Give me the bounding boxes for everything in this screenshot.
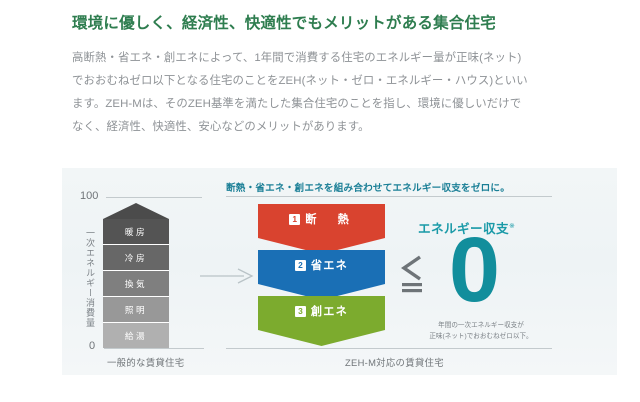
right-chart-caption: ZEH-M対応の賃貸住宅 [345,355,444,369]
right-arrow-icon [200,268,256,284]
step-chevron-energy-creation: 3 創エネ [258,296,385,346]
bar-segment-label: 換気 [125,278,147,290]
bar-segment-ventilation: 換気 [103,271,169,297]
bar-segment-label: 暖房 [125,226,147,238]
bar-segment-heating: 暖房 [103,219,169,245]
bar-segment-label: 給湯 [125,330,147,342]
axis-gridline-bottom [104,348,204,349]
bar-segment-cooling: 冷房 [103,245,169,271]
step-label: 断 熱 [305,211,354,227]
axis-max-label: 100 [80,190,98,202]
step-number: 2 [295,260,306,271]
step-chevron-insulation: 1 断 熱 [258,204,385,254]
footnote-mark: ※ [509,223,515,230]
step-number: 1 [289,214,300,225]
energy-balance-value: 0 [441,228,507,324]
bar-segment-label: 冷房 [125,252,147,264]
energy-balance-note: 年間の一次エネルギー収支が 正味(ネット)でおおむねゼロ以下。 [417,321,545,342]
article-body: 高断熱・省エネ・創エネによって、1年間で消費する住宅のエネルギー量が正味(ネット… [72,47,582,139]
diagram-band-text: 断熱・省エネ・創エネを組み合わせてエネルギー収支をゼロに。 [226,180,510,194]
page-title: 環境に優しく、経済性、快適性でもメリットがある集合住宅 [72,14,612,34]
note-line: 正味(ネット)でおおむねゼロ以下。 [417,332,545,343]
article-line: でおおむねゼロ以下となる住宅のことをZEH(ネット・ゼロ・エネルギー・ハウス)と… [72,70,582,93]
bar-segment-label: 照明 [125,304,147,316]
step-chevron-group: 1 断 熱 2 省エネ 3 創エネ [258,204,385,346]
less-than-or-equal-icon [398,255,426,295]
step-label: 創エネ [311,303,348,319]
step-chevron-energy-saving: 2 省エネ [258,250,385,300]
page-root: 環境に優しく、経済性、快適性でもメリットがある集合住宅 高断熱・省エネ・創エネに… [0,0,640,402]
bar-segment-lighting: 照明 [103,297,169,323]
band-divider-top [226,196,552,197]
axis-gridline-top [106,197,202,198]
stacked-house-bar: 暖房 冷房 換気 照明 給湯 [103,203,169,348]
house-roof-shape [103,203,169,219]
left-chart-caption: 一般的な賃貸住宅 [107,355,184,369]
bar-segment-hotwater: 給湯 [103,323,169,348]
note-line: 年間の一次エネルギー収支が [417,321,545,332]
band-divider-bottom [226,348,552,349]
article-line: 高断熱・省エネ・創エネによって、1年間で消費する住宅のエネルギー量が正味(ネット… [72,47,582,70]
article-line: ます。ZEH-Mは、そのZEH基準を満たした集合住宅のことを指し、環境に優しいだ… [72,93,582,116]
vertical-axis-label: 一次エネルギー消費量 [82,213,97,343]
step-number: 3 [295,306,306,317]
step-label: 省エネ [311,257,348,273]
article-line: なく、経済性、快適性、安心などのメリットがあります。 [72,116,582,139]
